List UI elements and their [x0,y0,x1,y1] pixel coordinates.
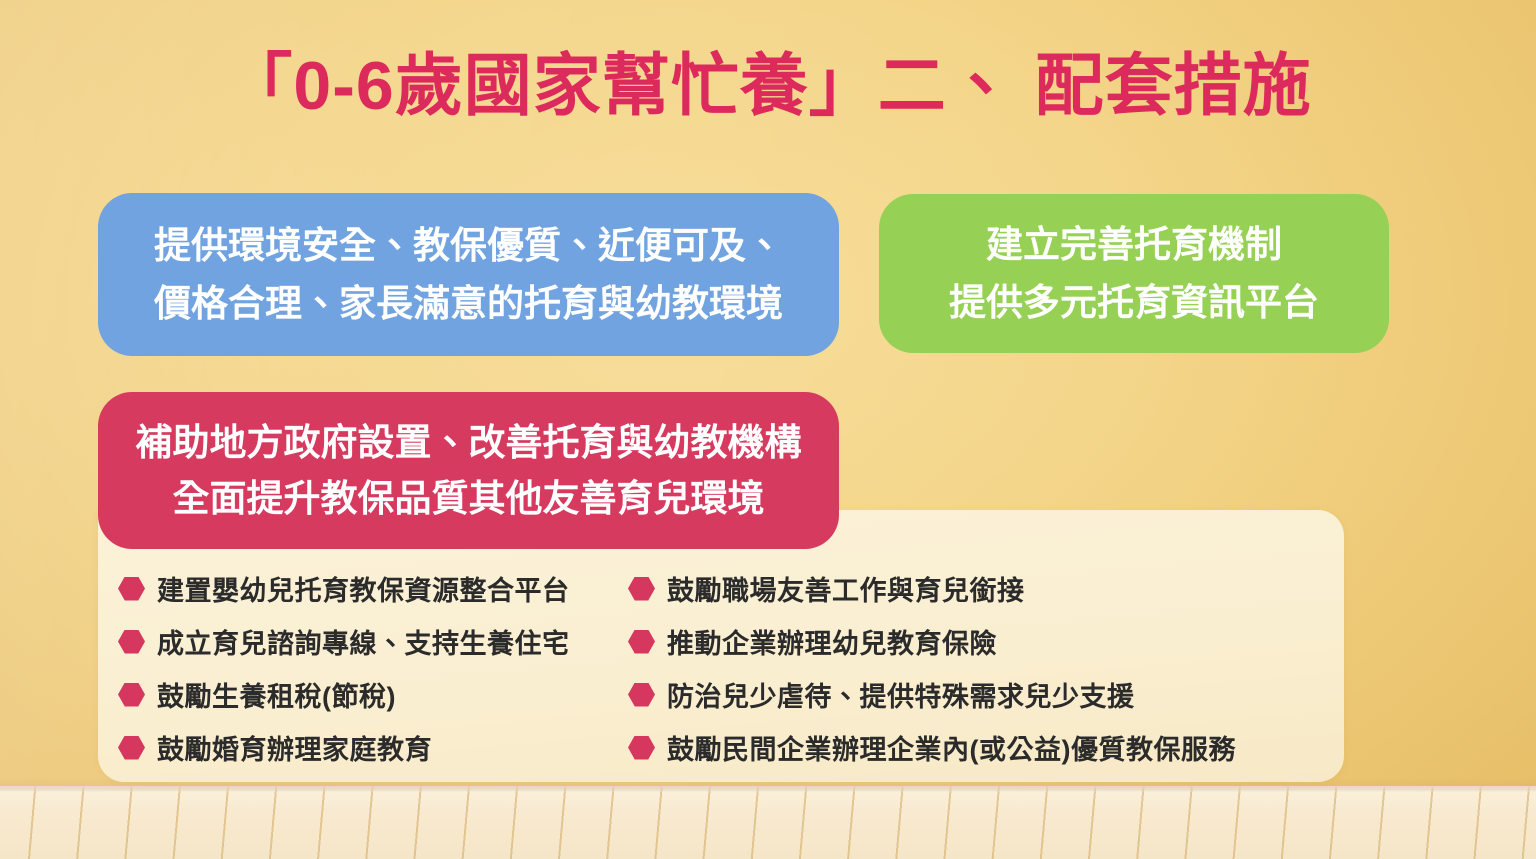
card-blue-line-1: 提供環境安全、教保優質、近便可及、 [154,217,783,274]
list-item: 鼓勵生養租稅(節稅) [118,668,628,721]
list-item-label: 鼓勵婚育辦理家庭教育 [157,728,432,767]
hexagon-bullet-icon [118,683,145,707]
hexagon-bullet-icon [118,577,145,601]
floor-baseboard [0,786,1536,792]
hexagon-bullet-icon [628,683,655,707]
hexagon-bullet-icon [118,736,145,760]
hexagon-bullet-icon [628,630,655,654]
list-item-label: 防治兒少虐待、提供特殊需求兒少支援 [667,675,1135,714]
card-green: 建立完善托育機制 提供多元托育資訊平台 [879,194,1389,353]
card-crimson-line-1: 補助地方政府設置、改善托育與幼教機構 [136,415,802,471]
list-item-label: 推動企業辦理幼兒教育保險 [667,622,997,661]
list-item: 鼓勵職場友善工作與育兒銜接 [628,562,1328,615]
list-item: 推動企業辦理幼兒教育保險 [628,615,1328,668]
page-title: 「0-6歲國家幫忙養」二、 配套措施 [0,52,1536,120]
hexagon-bullet-icon [628,577,655,601]
list-item-label: 鼓勵生養租稅(節稅) [157,675,396,714]
floor-plank-lines [0,786,1536,859]
list-item: 防治兒少虐待、提供特殊需求兒少支援 [628,668,1328,721]
card-crimson: 補助地方政府設置、改善托育與幼教機構 全面提升教保品質其他友善育兒環境 [98,392,839,549]
list-item: 鼓勵民間企業辦理企業內(或公益)優質教保服務 [628,721,1328,774]
list-item-label: 成立育兒諮詢專線、支持生養住宅 [157,622,570,661]
list-item-label: 建置嬰幼兒托育教保資源整合平台 [157,569,570,608]
list-item-label: 鼓勵職場友善工作與育兒銜接 [667,569,1025,608]
card-blue-line-2: 價格合理、家長滿意的托育與幼教環境 [154,275,783,332]
card-green-line-2: 提供多元托育資訊平台 [949,274,1319,331]
card-green-line-1: 建立完善托育機制 [986,216,1282,273]
slide-canvas: 「0-6歲國家幫忙養」二、 配套措施 提供環境安全、教保優質、近便可及、 價格合… [0,0,1536,859]
bullet-list: 建置嬰幼兒托育教保資源整合平台 鼓勵職場友善工作與育兒銜接 成立育兒諮詢專線、支… [118,562,1338,774]
list-item-label: 鼓勵民間企業辦理企業內(或公益)優質教保服務 [667,728,1236,767]
list-item: 鼓勵婚育辦理家庭教育 [118,721,628,774]
card-blue: 提供環境安全、教保優質、近便可及、 價格合理、家長滿意的托育與幼教環境 [98,193,839,356]
list-item: 成立育兒諮詢專線、支持生養住宅 [118,615,628,668]
hexagon-bullet-icon [628,736,655,760]
list-item: 建置嬰幼兒托育教保資源整合平台 [118,562,628,615]
card-crimson-line-2: 全面提升教保品質其他友善育兒環境 [173,471,765,527]
wooden-floor [0,786,1536,859]
hexagon-bullet-icon [118,630,145,654]
